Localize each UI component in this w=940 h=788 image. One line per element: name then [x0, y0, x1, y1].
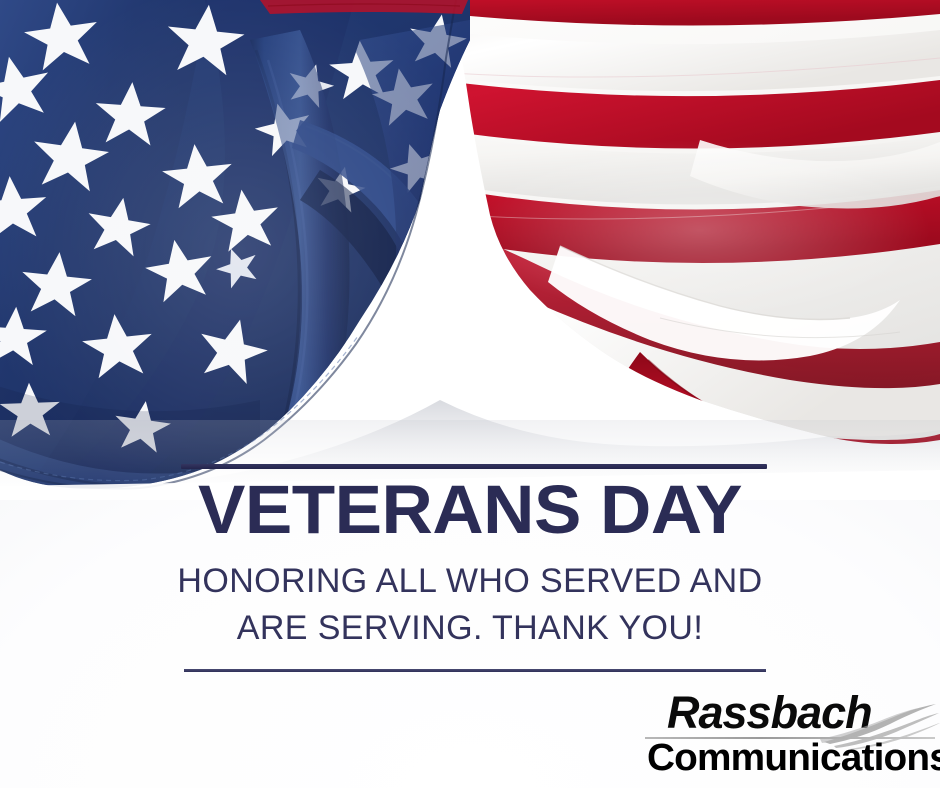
page-subtitle: HONORING ALL WHO SERVED AND ARE SERVING.… [0, 558, 940, 652]
page-title: VETERANS DAY [0, 474, 940, 546]
subtitle-line-1: HONORING ALL WHO SERVED AND [0, 558, 940, 605]
logo-sub-wordmark: Communications [647, 738, 940, 778]
headline-rule-bottom [184, 669, 766, 672]
american-flag-photo [0, 0, 940, 500]
logo-wordmark: Rassbach [667, 688, 872, 738]
subtitle-line-2: ARE SERVING. THANK YOU! [0, 605, 940, 652]
headline-rule-top [181, 464, 767, 469]
rassbach-communications-logo: Rassbach Communications [645, 690, 935, 775]
veterans-day-poster: VETERANS DAY HONORING ALL WHO SERVED AND… [0, 0, 940, 788]
